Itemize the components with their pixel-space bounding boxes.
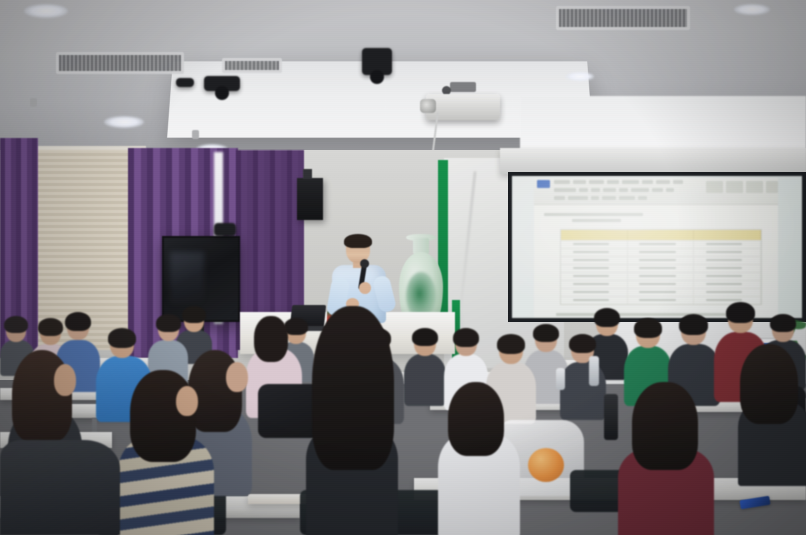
person-head [176, 386, 198, 416]
ceiling-camera-small [176, 78, 194, 87]
audience-member [560, 334, 606, 418]
screen-housing [500, 148, 806, 174]
person-hair [634, 318, 662, 338]
person-hair [312, 306, 394, 470]
projected-document [534, 178, 778, 318]
person-hair [497, 334, 525, 354]
person-hair [453, 328, 479, 347]
water-bottle [589, 356, 599, 386]
person-hair [4, 316, 28, 333]
person-hair [679, 314, 708, 335]
table-row [561, 240, 761, 248]
table-header-row [561, 230, 761, 240]
projection-screen [512, 176, 802, 318]
projected-data-table [560, 229, 762, 305]
table-row [561, 264, 761, 272]
sprinkler-head [192, 130, 199, 139]
person-hair [533, 324, 559, 342]
ribbon-command-row-2 [554, 196, 775, 200]
person-hair [632, 382, 698, 470]
person-hair [156, 314, 181, 332]
person-hair [594, 308, 620, 327]
person-hair [254, 316, 288, 362]
person-hair [65, 312, 91, 331]
audience-member-foreground [618, 382, 714, 535]
ceiling-camera-center [362, 48, 392, 75]
person-hair [726, 302, 755, 323]
water-bottle [556, 368, 565, 390]
person-hair [108, 328, 136, 348]
audience-member-foreground [118, 370, 214, 535]
presenter-hand-right [359, 282, 371, 294]
thermos-bottle [604, 394, 618, 440]
document-text-line [544, 213, 643, 216]
recessed-downlight [104, 116, 144, 128]
person-torso [0, 440, 120, 535]
document-text-line [572, 219, 621, 222]
tv-reflection [170, 252, 204, 304]
person-torso [560, 362, 606, 420]
projector-lens [420, 99, 436, 113]
audience-member-foreground [438, 382, 520, 535]
audience-member-foreground [306, 306, 398, 535]
person-hair [740, 344, 798, 424]
air-vent-grille [556, 6, 690, 30]
sprinkler-head [30, 98, 37, 107]
air-vent-grille [56, 52, 184, 74]
person-hair [569, 334, 596, 353]
air-vent-grille [222, 58, 282, 73]
table-row [561, 256, 761, 264]
lecture-hall-photo: University lecture hall during a present… [0, 0, 806, 535]
office-logo-icon [537, 180, 550, 188]
ceiling-camera-left [204, 76, 240, 91]
document-ribbon-toolbar [534, 178, 778, 205]
recessed-downlight [24, 4, 68, 18]
table-row [561, 288, 761, 296]
tv-top-camera-icon [214, 223, 236, 236]
ribbon-button-group [746, 181, 763, 193]
presenter-hair [344, 234, 372, 248]
table-row [561, 280, 761, 288]
person-hair [448, 382, 504, 456]
ceiling-projector [420, 88, 502, 122]
projector-mount [450, 82, 476, 92]
ribbon-button-group [726, 181, 743, 193]
wall-speaker [297, 178, 323, 220]
person-hair [770, 314, 796, 332]
ribbon-button-group [766, 181, 778, 193]
person-head [54, 364, 76, 396]
orange-fruit [528, 448, 564, 482]
person-hair [130, 370, 196, 462]
table-row [561, 248, 761, 256]
recessed-downlight [734, 4, 770, 15]
ribbon-button-group [706, 181, 723, 193]
person-head [226, 362, 248, 392]
person-hair [412, 328, 438, 346]
audience-member-foreground [0, 440, 120, 535]
table-row [561, 272, 761, 280]
audience-member-foreground [738, 344, 806, 480]
recessed-downlight [566, 72, 594, 81]
